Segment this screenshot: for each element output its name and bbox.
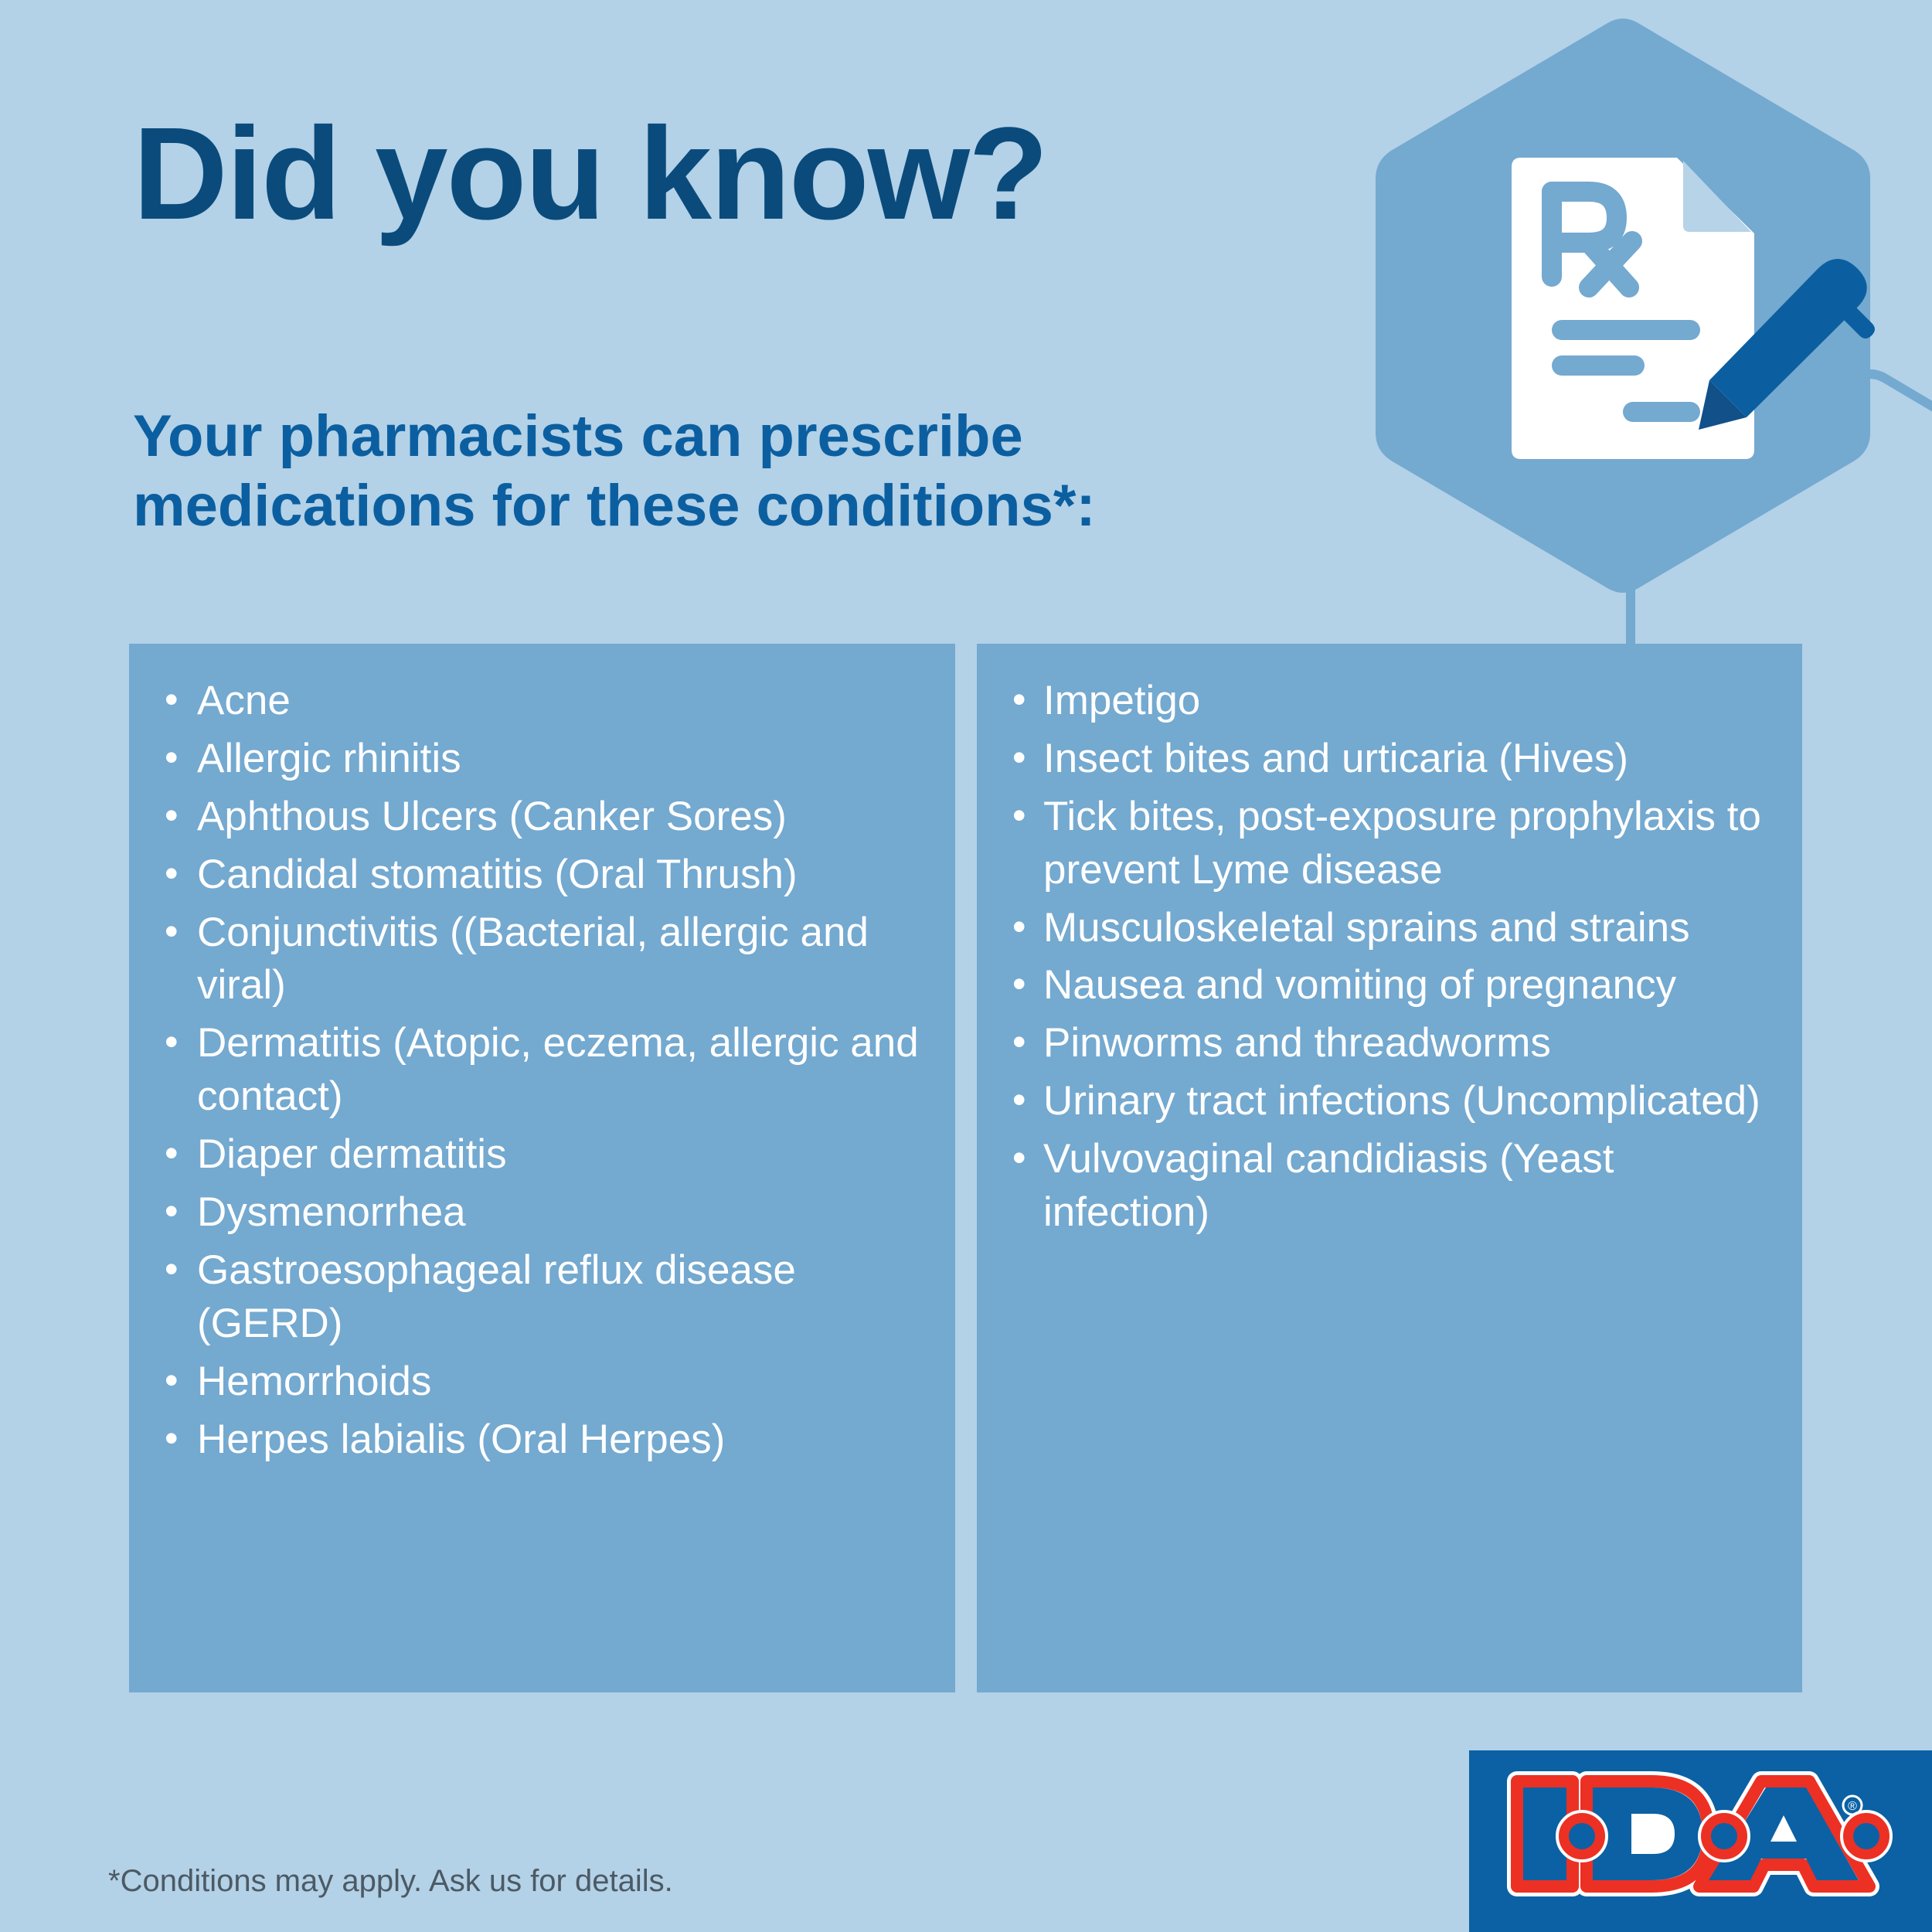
document-text-line-1	[1552, 320, 1700, 340]
condition-list-item: Pinworms and threadworms	[1000, 1017, 1779, 1070]
condition-list-item: Impetigo	[1000, 675, 1779, 728]
pen-icon	[1699, 259, 1875, 430]
pen-tip-shape	[1699, 380, 1747, 430]
condition-list-item: Tick bites, post-exposure prophylaxis to…	[1000, 791, 1779, 897]
footnote-text: *Conditions may apply. Ask us for detail…	[108, 1864, 673, 1899]
page-subtitle: Your pharmacists can prescribe medicatio…	[133, 402, 1096, 540]
ida-logo: ®	[1506, 1770, 1893, 1910]
condition-list-item: Vulvovaginal candidiasis (Yeast infectio…	[1000, 1133, 1779, 1240]
page-title: Did you know?	[133, 108, 1047, 240]
document-text-line-2	[1552, 355, 1645, 376]
registered-trademark-icon: ®	[1843, 1796, 1862, 1815]
conditions-panel-left: AcneAllergic rhinitisAphthous Ulcers (Ca…	[129, 644, 955, 1692]
registered-mark-glyph: ®	[1848, 1800, 1857, 1813]
condition-list-item: Urinary tract infections (Uncomplicated)	[1000, 1075, 1779, 1128]
pen-body-shape	[1709, 259, 1867, 417]
condition-list-item: Hemorrhoids	[152, 1355, 932, 1409]
pen-clip-shape	[1842, 306, 1875, 338]
document-signature-line	[1623, 402, 1700, 422]
condition-list-item: Gastroesophageal reflux disease (GERD)	[152, 1244, 932, 1351]
ida-logo-plate: ®	[1469, 1750, 1932, 1932]
condition-list-item: Musculoskeletal sprains and strains	[1000, 902, 1779, 955]
conditions-list-right: ImpetigoInsect bites and urticaria (Hive…	[1000, 675, 1779, 1240]
infographic-poster: Did you know? Your pharmacists can presc…	[0, 0, 1932, 1932]
hexagon-filled-shape	[1376, 19, 1870, 593]
condition-list-item: Herpes labialis (Oral Herpes)	[152, 1413, 932, 1467]
condition-list-item: Dermatitis (Atopic, eczema, allergic and…	[152, 1017, 932, 1124]
condition-list-item: Aphthous Ulcers (Canker Sores)	[152, 791, 932, 844]
conditions-panel-right: ImpetigoInsect bites and urticaria (Hive…	[977, 644, 1802, 1692]
prescription-document-icon	[1512, 158, 1754, 459]
subtitle-line-2: medications for these conditions*:	[133, 473, 1096, 539]
subtitle-line-1: Your pharmacists can prescribe	[133, 403, 1023, 469]
rx-symbol	[1552, 192, 1632, 287]
condition-list-item: Conjunctivitis ((Bacterial, allergic and…	[152, 906, 932, 1013]
condition-list-item: Nausea and vomiting of pregnancy	[1000, 959, 1779, 1012]
condition-list-item: Diaper dermatitis	[152, 1128, 932, 1182]
document-folded-corner-shape	[1683, 161, 1751, 232]
document-page-shape	[1512, 158, 1754, 459]
condition-list-item: Allergic rhinitis	[152, 733, 932, 786]
condition-list-item: Insect bites and urticaria (Hives)	[1000, 733, 1779, 786]
conditions-list-left: AcneAllergic rhinitisAphthous Ulcers (Ca…	[152, 675, 932, 1466]
condition-list-item: Candidal stomatitis (Oral Thrush)	[152, 849, 932, 902]
condition-list-item: Acne	[152, 675, 932, 728]
condition-list-item: Dysmenorrhea	[152, 1186, 932, 1240]
